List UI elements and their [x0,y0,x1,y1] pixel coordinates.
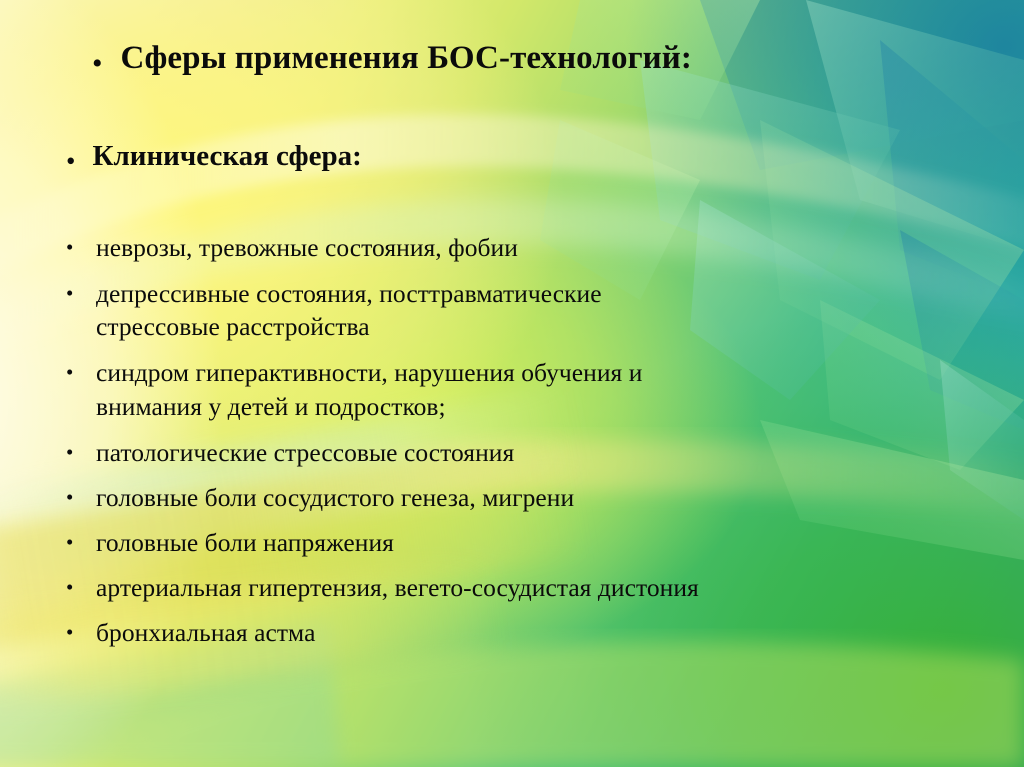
list-item: • депрессивные состояния, посттравматиче… [66,277,996,343]
list-bullet-icon: • [66,283,96,304]
list-item-text: депрессивные состояния, посттравматическ… [96,277,602,343]
list-item: • артериальная гипертензия, вегето-сосуд… [66,571,996,604]
slide-subtitle: • Клиническая сфера: [66,140,362,172]
subtitle-text: Клиническая сфера: [92,140,361,172]
list-item-text: артериальная гипертензия, вегето-сосудис… [96,571,699,604]
list-bullet-icon: • [66,577,96,598]
list-item: • бронхиальная астма [66,616,996,649]
slide-title: • Сферы применения БОС-технологий: [92,40,692,77]
list-item-text: неврозы, тревожные состояния, фобии [96,231,518,264]
list-item: • синдром гиперактивности, нарушения обу… [66,356,996,422]
list-item-text: головные боли сосудистого генеза, мигрен… [96,481,574,514]
list-item-text: бронхиальная астма [96,616,315,649]
list-item-text: головные боли напряжения [96,526,394,559]
presentation-slide: • Сферы применения БОС-технологий: • Кли… [0,0,1024,767]
title-bullet-icon: • [92,49,103,79]
bullet-list: • неврозы, тревожные состояния, фобии • … [66,231,996,649]
list-bullet-icon: • [66,532,96,553]
list-item: • неврозы, тревожные состояния, фобии [66,231,996,264]
list-item: • головные боли напряжения [66,526,996,559]
title-text: Сферы применения БОС-технологий: [121,40,692,77]
list-bullet-icon: • [66,622,96,643]
list-item: • головные боли сосудистого генеза, мигр… [66,481,996,514]
list-item-text: патологические стрессовые состояния [96,436,514,469]
subtitle-bullet-icon: • [66,148,75,175]
list-item: • патологические стрессовые состояния [66,436,996,469]
list-bullet-icon: • [66,362,96,383]
list-bullet-icon: • [66,237,96,258]
slide-content: • Сферы применения БОС-технологий: • Кли… [0,0,1024,767]
list-bullet-icon: • [66,487,96,508]
list-item-text: синдром гиперактивности, нарушения обуче… [96,356,642,422]
list-bullet-icon: • [66,442,96,463]
